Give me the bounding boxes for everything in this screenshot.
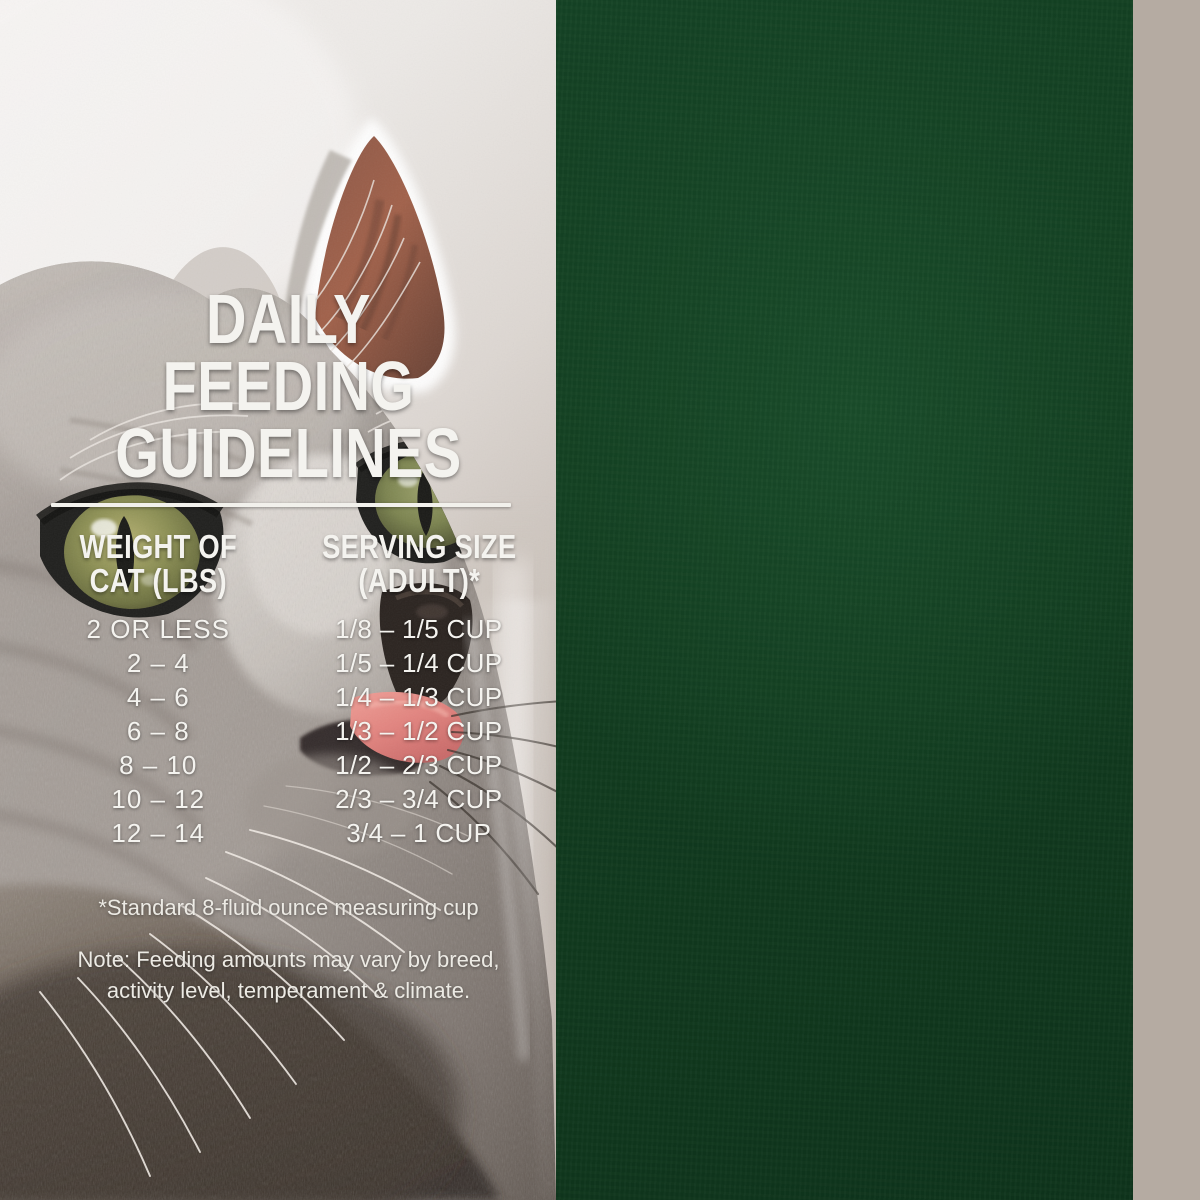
column-header-serving-line1: SERVING SIZE: [322, 528, 516, 565]
cell-serving: 1/4 – 1/3 CUP: [289, 682, 550, 713]
cell-serving: 1/8 – 1/5 CUP: [289, 614, 550, 645]
column-header-weight: WEIGHT OFCAT (LBS): [50, 530, 266, 598]
cell-weight: 4 – 6: [28, 682, 289, 713]
table-header-row: WEIGHT OFCAT (LBS) SERVING SIZE(ADULT)*: [28, 530, 549, 598]
column-header-weight-line1: WEIGHT OF: [80, 528, 237, 565]
table-row: 12 – 14 3/4 – 1 CUP: [28, 817, 549, 851]
note-line1: Note: Feeding amounts may vary by breed,: [44, 944, 533, 975]
cell-weight: 6 – 8: [28, 716, 289, 747]
cell-weight: 2 – 4: [28, 648, 289, 679]
footnote-text: *Standard 8-fluid ounce measuring cup: [28, 893, 549, 923]
column-header-weight-line2: CAT (LBS): [50, 564, 266, 598]
table-row: 2 – 4 1/5 – 1/4 CUP: [28, 647, 549, 681]
table-row: 6 – 8 1/3 – 1/2 CUP: [28, 715, 549, 749]
cell-weight: 2 OR LESS: [28, 614, 289, 645]
cell-serving: 3/4 – 1 CUP: [289, 818, 550, 849]
column-header-serving: SERVING SIZE(ADULT)*: [311, 530, 527, 598]
table-row: 8 – 10 1/2 – 2/3 CUP: [28, 749, 549, 783]
table-row: 2 OR LESS 1/8 – 1/5 CUP: [28, 613, 549, 647]
feeding-guidelines-poster: DAILY FEEDINGGUIDELINES WEIGHT OFCAT (LB…: [0, 0, 1200, 1200]
cell-serving: 1/3 – 1/2 CUP: [289, 716, 550, 747]
feeding-table: WEIGHT OFCAT (LBS) SERVING SIZE(ADULT)* …: [28, 530, 549, 851]
cell-weight: 12 – 14: [28, 818, 289, 849]
cell-serving: 1/2 – 2/3 CUP: [289, 750, 550, 781]
cell-weight: 8 – 10: [28, 750, 289, 781]
note-line2: activity level, temperament & climate.: [44, 975, 533, 1006]
cell-serving: 1/5 – 1/4 CUP: [289, 648, 550, 679]
cell-weight: 10 – 12: [28, 784, 289, 815]
table-row: 4 – 6 1/4 – 1/3 CUP: [28, 681, 549, 715]
table-body: 2 OR LESS 1/8 – 1/5 CUP 2 – 4 1/5 – 1/4 …: [28, 613, 549, 851]
page-title-line2: GUIDELINES: [80, 420, 497, 487]
cell-serving: 2/3 – 3/4 CUP: [289, 784, 550, 815]
guidelines-content: DAILY FEEDINGGUIDELINES WEIGHT OFCAT (LB…: [0, 0, 577, 1200]
title-divider: [51, 503, 511, 507]
page-title: DAILY FEEDINGGUIDELINES: [80, 286, 497, 488]
guidelines-panel: [556, 0, 1133, 1200]
page-title-line1: DAILY FEEDING: [163, 280, 415, 425]
note-text: Note: Feeding amounts may vary by breed,…: [44, 944, 533, 1006]
table-row: 10 – 12 2/3 – 3/4 CUP: [28, 783, 549, 817]
column-header-serving-line2: (ADULT)*: [311, 564, 527, 598]
